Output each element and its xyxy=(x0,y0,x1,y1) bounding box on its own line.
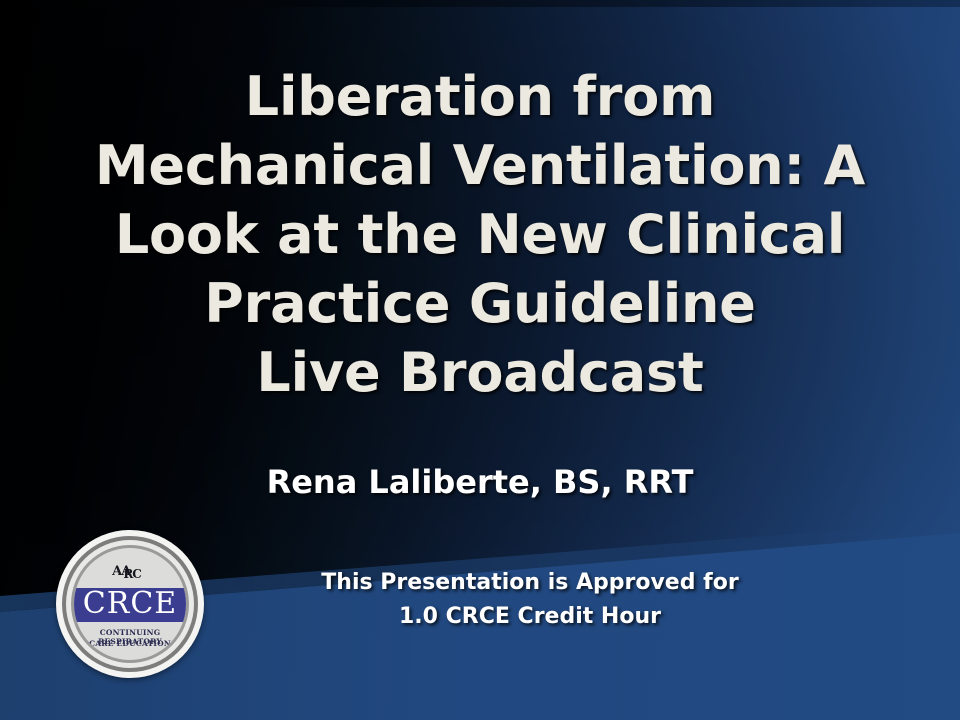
top-shade-strip xyxy=(0,0,960,7)
presenter-name: Rena Laliberte, BS, RRT xyxy=(60,462,900,502)
aarc-mark-sub: RC xyxy=(123,567,141,581)
aarc-mark: AARC xyxy=(74,564,186,579)
presentation-slide: Liberation from Mechanical Ventilation: … xyxy=(0,0,960,720)
approval-line-1: This Presentation is Approved for xyxy=(160,566,900,600)
approval-statement: This Presentation is Approved for 1.0 CR… xyxy=(160,566,900,634)
logo-acronym: CRCE xyxy=(74,587,186,621)
crce-logo: AARC CRCE CONTINUING RESPIRATORY CARE ED… xyxy=(56,530,204,678)
logo-tagline-line-2: CARE EDUCATION xyxy=(74,639,186,648)
approval-line-2: 1.0 CRCE Credit Hour xyxy=(160,600,900,634)
slide-title: Liberation from Mechanical Ventilation: … xyxy=(60,62,900,407)
logo-face: AARC CRCE CONTINUING RESPIRATORY CARE ED… xyxy=(74,548,186,660)
